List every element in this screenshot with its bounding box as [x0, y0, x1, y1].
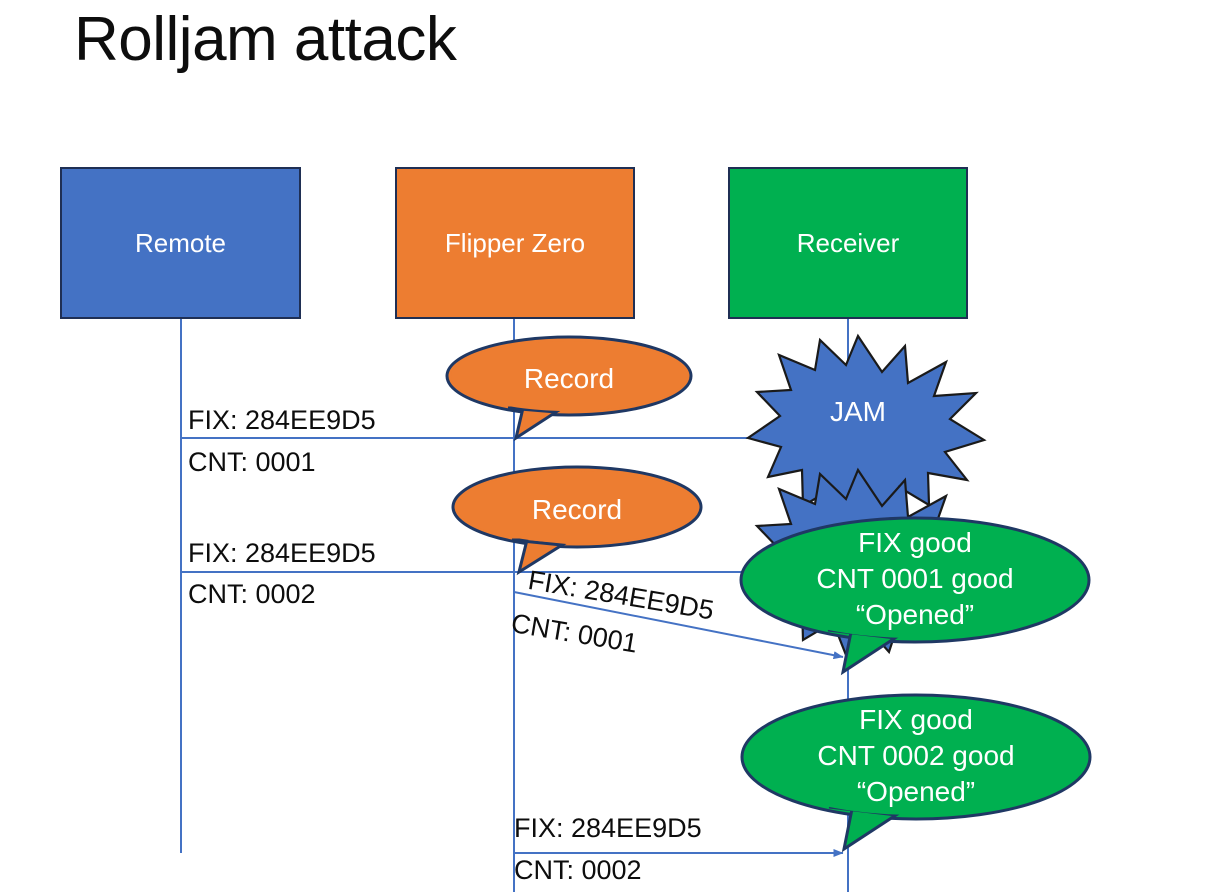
- callout-opened-1: [741, 518, 1089, 672]
- diagram-shapes: [0, 0, 1231, 892]
- slide-canvas: Rolljam attack: [0, 0, 1231, 892]
- message-label-4-cnt: CNT: 0002: [514, 855, 642, 886]
- message-label-1-fix: FIX: 284EE9D5: [188, 405, 376, 436]
- message-label-2-cnt: CNT: 0002: [188, 579, 316, 610]
- callout-record-1: [447, 337, 691, 438]
- message-label-2-fix: FIX: 284EE9D5: [188, 538, 376, 569]
- callout-opened-2: [742, 695, 1090, 849]
- message-label-1-cnt: CNT: 0001: [188, 447, 316, 478]
- message-label-4-fix: FIX: 284EE9D5: [514, 813, 702, 844]
- callout-record-2: [453, 467, 701, 572]
